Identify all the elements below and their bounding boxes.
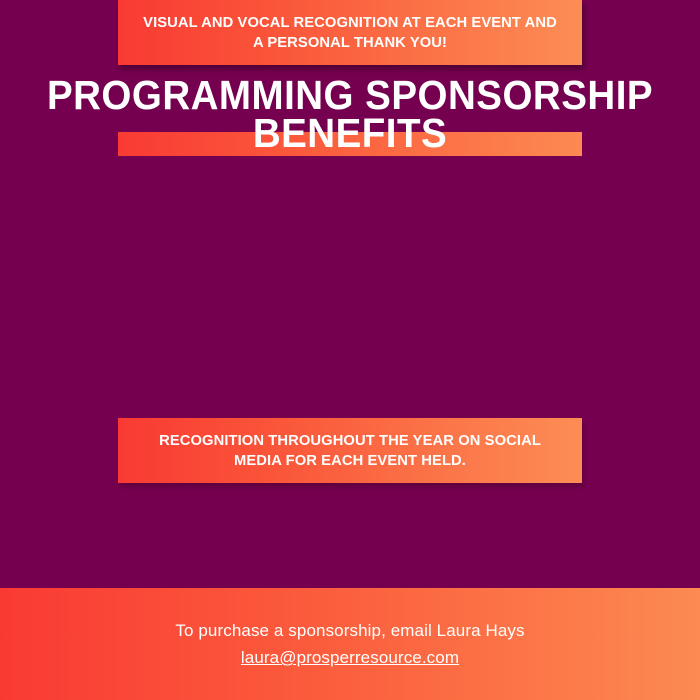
sponsorship-benefits-poster: PROGRAMMING SPONSORSHIP BENEFITS RECOGNI… — [0, 0, 700, 700]
footer-instruction-text: To purchase a sponsorship, email Laura H… — [175, 617, 524, 644]
benefit-card-text: VISUAL AND VOCAL RECOGNITION AT EACH EVE… — [139, 13, 562, 53]
benefits-heading-text: BENEFITS — [132, 110, 568, 156]
benefit-card: RECOGNITION THROUGHOUT THE YEAR ON SOCIA… — [118, 418, 582, 483]
footer-contact-band: To purchase a sponsorship, email Laura H… — [0, 588, 700, 700]
benefit-card-text: RECOGNITION THROUGHOUT THE YEAR ON SOCIA… — [139, 431, 562, 471]
contact-email-link[interactable]: laura@prosperresource.com — [241, 644, 459, 671]
benefits-heading-bar: BENEFITS — [118, 132, 582, 156]
benefit-card: VISUAL AND VOCAL RECOGNITION AT EACH EVE… — [118, 0, 582, 65]
